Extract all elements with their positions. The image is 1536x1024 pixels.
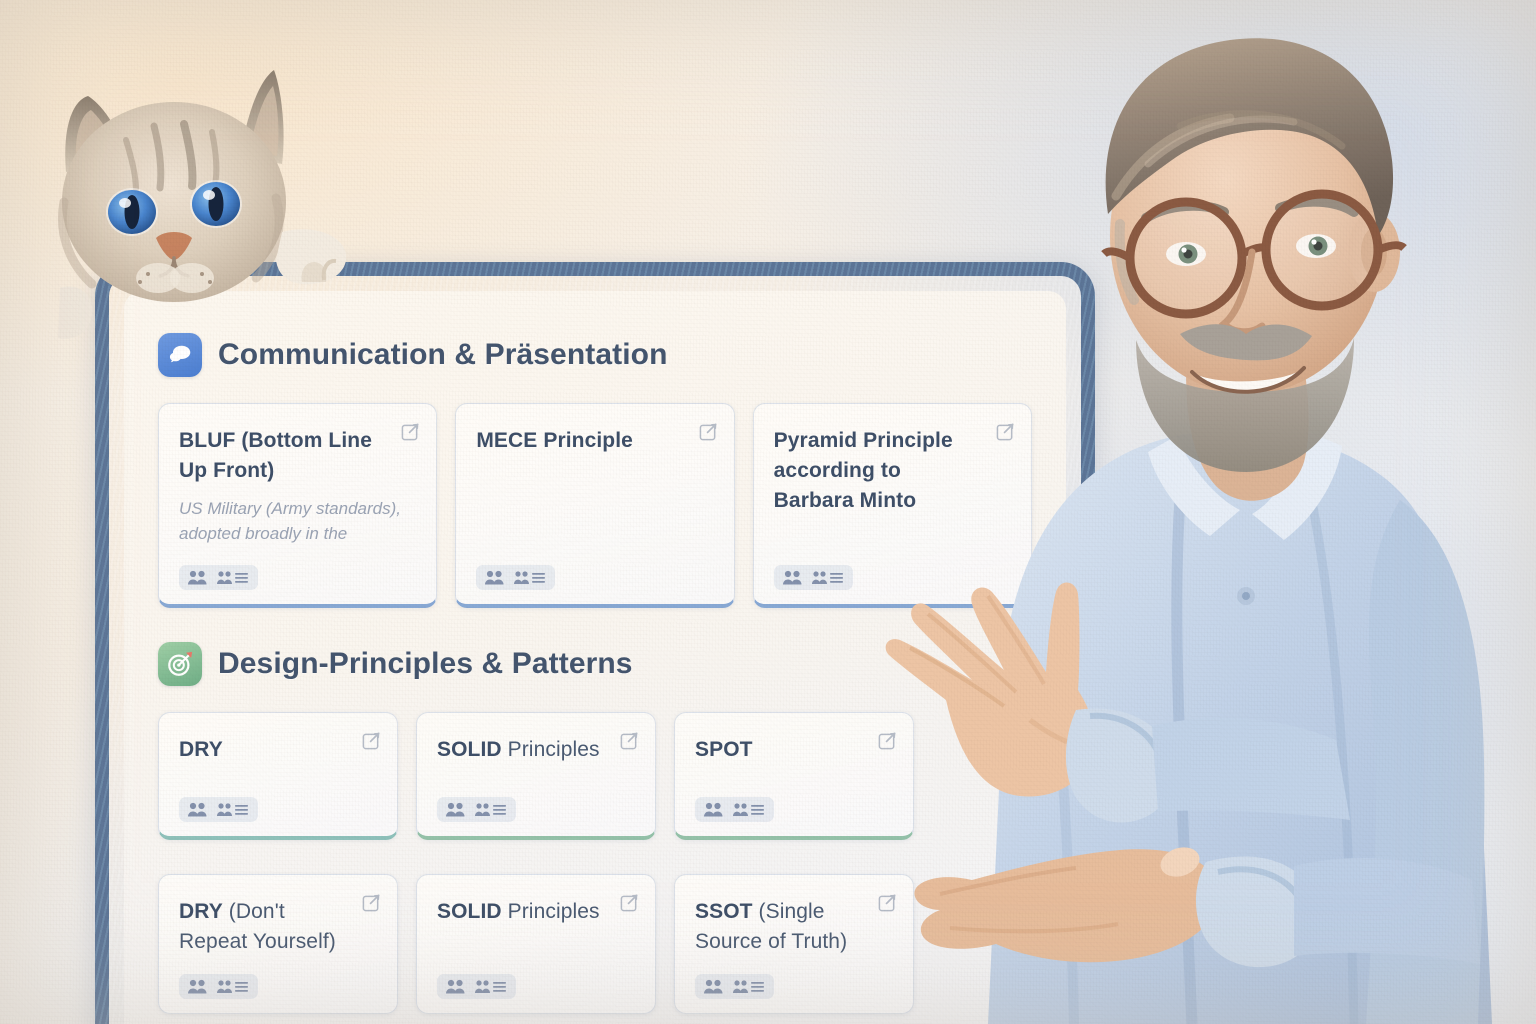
people-group-icon[interactable] xyxy=(695,974,774,999)
people-group-icon[interactable] xyxy=(179,797,258,822)
external-link-icon[interactable] xyxy=(362,893,381,912)
card-spot[interactable]: SPOT xyxy=(674,712,914,840)
card-spacer xyxy=(437,927,635,968)
people-group-icon[interactable] xyxy=(437,797,516,822)
card-mece[interactable]: MECE Principle xyxy=(455,403,734,608)
card-title-light: Principles xyxy=(502,738,600,761)
card-dry-dont-repeat-yourself[interactable]: DRY (Don't Repeat Yourself) xyxy=(158,874,398,1014)
card-title-bold: SOLID xyxy=(437,900,502,923)
card-subtitle: US Military (Army standards), adopted br… xyxy=(179,496,416,547)
scene-background: Communication & Präsentation BLUF (Botto… xyxy=(0,0,1536,1024)
external-link-icon[interactable] xyxy=(620,893,639,912)
card-title-light: Principles xyxy=(502,900,600,923)
card-spacer xyxy=(179,765,377,791)
card-title: SOLID Principles xyxy=(437,897,635,927)
people-group-icon[interactable] xyxy=(179,565,258,590)
presenter-illustration xyxy=(880,0,1536,1024)
card-spacer xyxy=(437,765,635,791)
ragdoll-cat-illustration xyxy=(44,52,374,352)
card-title-bold: SPOT xyxy=(695,738,753,761)
card-spacer xyxy=(695,957,893,968)
card-solid-principles-2[interactable]: SOLID Principles xyxy=(416,874,656,1014)
presenter-lower-hand xyxy=(914,843,1218,963)
people-group-icon[interactable] xyxy=(774,565,853,590)
card-title: MECE Principle xyxy=(476,426,713,456)
card-title-bold: DRY xyxy=(179,900,223,923)
card-dry[interactable]: DRY xyxy=(158,712,398,840)
card-title-bold: SSOT xyxy=(695,900,753,923)
people-group-icon[interactable] xyxy=(695,797,774,822)
card-title: SOLID Principles xyxy=(437,735,635,765)
external-link-icon[interactable] xyxy=(620,731,639,750)
card-title: DRY xyxy=(179,735,377,765)
card-spacer xyxy=(695,765,893,791)
card-spacer xyxy=(179,957,377,968)
people-group-icon[interactable] xyxy=(476,565,555,590)
card-title: SSOT (Single Source of Truth) xyxy=(695,897,893,957)
people-group-icon[interactable] xyxy=(437,974,516,999)
external-link-icon[interactable] xyxy=(362,731,381,750)
card-title: SPOT xyxy=(695,735,893,765)
target-dart-icon xyxy=(158,642,202,686)
card-spacer xyxy=(476,456,713,559)
external-link-icon[interactable] xyxy=(401,422,420,441)
people-group-icon[interactable] xyxy=(179,974,258,999)
card-ssot[interactable]: SSOT (Single Source of Truth) xyxy=(674,874,914,1014)
card-solid-principles[interactable]: SOLID Principles xyxy=(416,712,656,840)
presenter-upper-hand xyxy=(886,582,1095,796)
card-title-bold: SOLID xyxy=(437,738,502,761)
card-title-bold: DRY xyxy=(179,738,223,761)
card-spacer xyxy=(179,547,416,559)
external-link-icon[interactable] xyxy=(699,422,718,441)
card-bluf[interactable]: BLUF (Bottom Line Up Front) US Military … xyxy=(158,403,437,608)
section-title: Design-Principles & Patterns xyxy=(218,647,633,681)
card-title: BLUF (Bottom Line Up Front) xyxy=(179,426,416,486)
card-title: DRY (Don't Repeat Yourself) xyxy=(179,897,377,957)
